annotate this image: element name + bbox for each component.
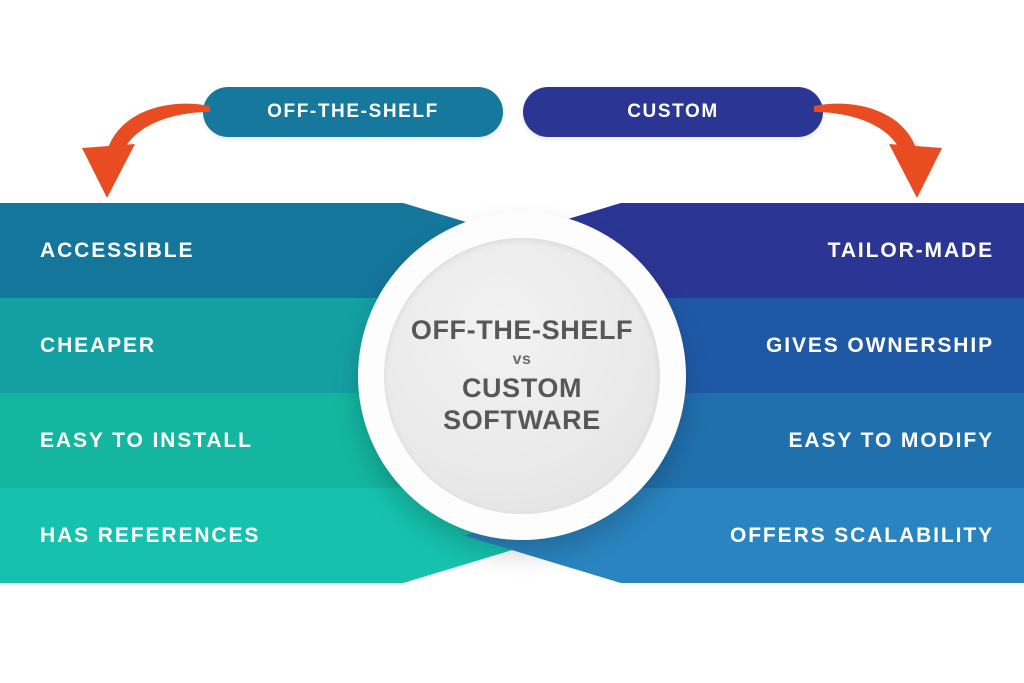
left-item-label-1: ACCESSIBLE [40, 239, 194, 263]
curved-arrow-down-right-icon [796, 96, 946, 208]
left-item-label-4: HAS REFERENCES [40, 524, 260, 548]
right-item-label-2: GIVES OWNERSHIP [766, 334, 994, 358]
right-item-label-1: TAILOR-MADE [828, 239, 994, 263]
center-circle-inner: OFF-THE-SHELF vs CUSTOM SOFTWARE [384, 238, 660, 514]
off-the-shelf-header-label: OFF-THE-SHELF [267, 101, 439, 123]
left-item-label-3: EASY TO INSTALL [40, 429, 253, 453]
center-circle: OFF-THE-SHELF vs CUSTOM SOFTWARE [358, 212, 686, 540]
custom-header-label: CUSTOM [627, 101, 719, 123]
custom-header-button[interactable]: CUSTOM [523, 87, 823, 137]
curved-arrow-down-left-icon [78, 96, 228, 208]
center-title-line-2: CUSTOM SOFTWARE [384, 373, 660, 437]
off-the-shelf-header-button[interactable]: OFF-THE-SHELF [203, 87, 503, 137]
right-item-label-4: OFFERS SCALABILITY [730, 524, 994, 548]
infographic-canvas: ACCESSIBLE CHEAPER EASY TO INSTALL HAS R… [0, 0, 1024, 683]
center-title-line-1: OFF-THE-SHELF [411, 315, 633, 347]
left-item-label-2: CHEAPER [40, 334, 156, 358]
right-item-label-3: EASY TO MODIFY [788, 429, 994, 453]
center-title-vs: vs [513, 347, 532, 373]
